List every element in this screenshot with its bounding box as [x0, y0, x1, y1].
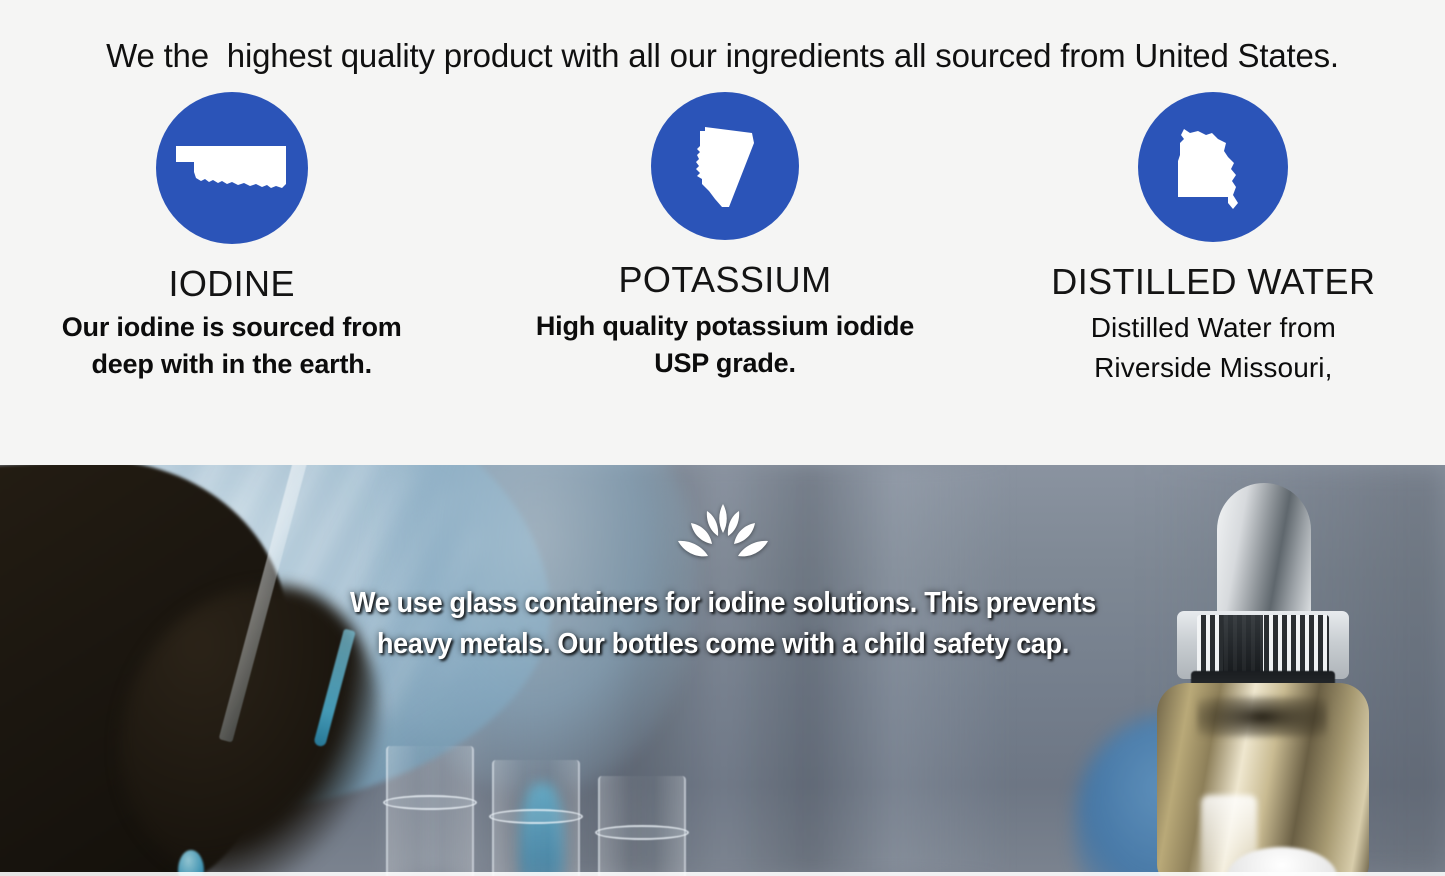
photo-bottom-edge [0, 872, 1445, 876]
ingredient-description: High quality potassium iodide USP grade. [515, 308, 935, 382]
arizona-state-icon [651, 92, 799, 240]
missouri-state-icon [1138, 92, 1288, 242]
ingredient-title: DISTILLED WATER [1051, 261, 1375, 303]
lab-photo-panel: We use glass containers for iodine solut… [0, 465, 1445, 876]
headline: We the highest quality product with all … [0, 36, 1445, 76]
photo-caption: We use glass containers for iodine solut… [323, 583, 1123, 665]
oklahoma-state-icon [156, 92, 308, 244]
lotus-flower-icon [676, 503, 770, 561]
ingredient-columns: IODINE Our iodine is sourced from deep w… [0, 92, 1445, 462]
ingredient-title: POTASSIUM [619, 259, 832, 301]
ingredient-description: Distilled Water from Riverside Missouri, [1033, 308, 1393, 388]
product-infographic-page: We the highest quality product with all … [0, 0, 1445, 876]
photo-overlay-content: We use glass containers for iodine solut… [0, 465, 1445, 876]
ingredient-description: Our iodine is sourced from deep with in … [47, 309, 417, 383]
ingredient-column-iodine: IODINE Our iodine is sourced from deep w… [0, 92, 483, 462]
ingredient-title: IODINE [168, 263, 294, 305]
ingredients-panel: We the highest quality product with all … [0, 0, 1445, 465]
ingredient-column-potassium: POTASSIUM High quality potassium iodide … [483, 92, 966, 462]
ingredient-column-distilled-water: DISTILLED WATER Distilled Water from Riv… [967, 92, 1445, 462]
